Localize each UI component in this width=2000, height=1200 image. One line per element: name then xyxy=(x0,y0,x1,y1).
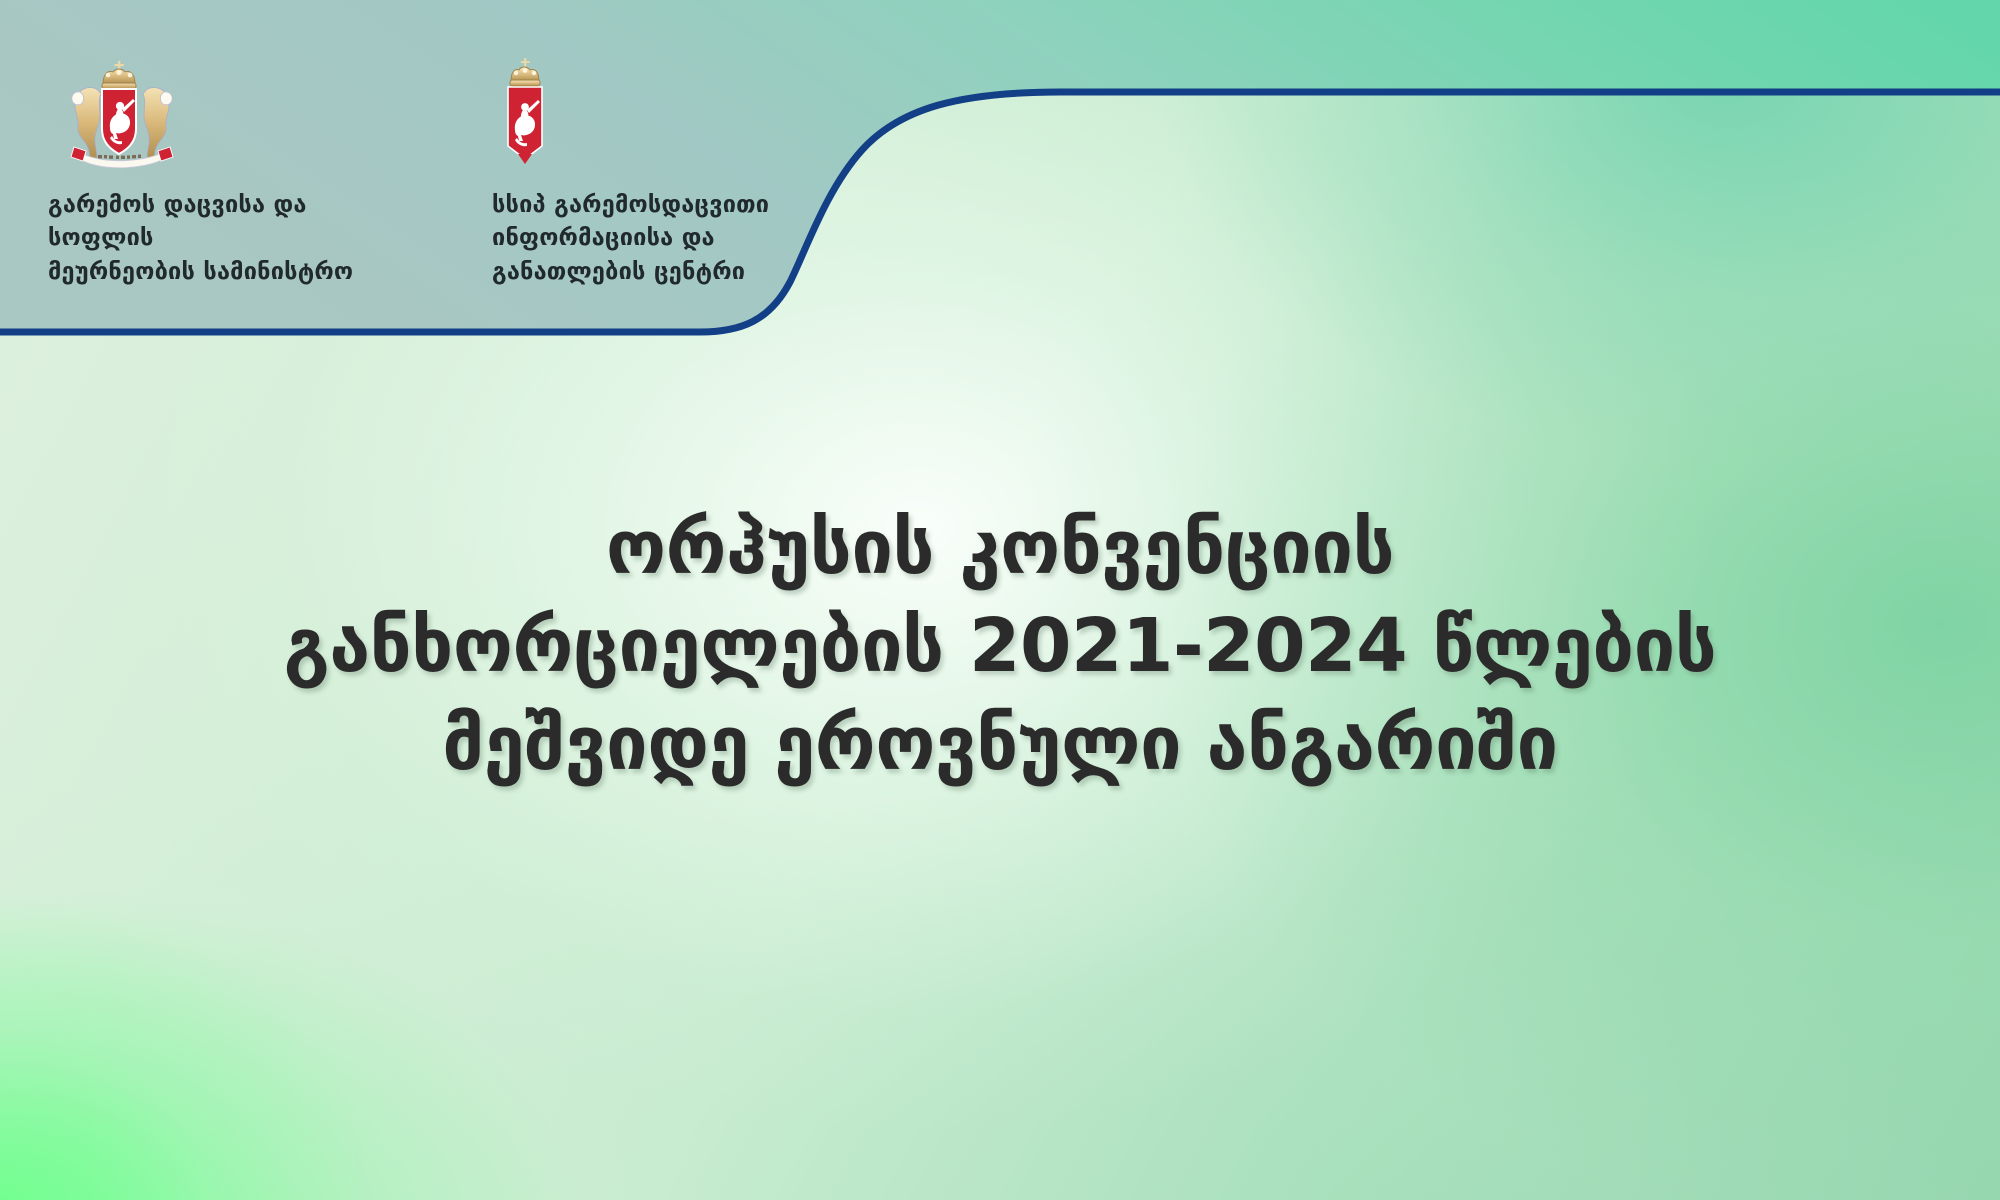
title-line-3: მეშვიდე ეროვნული ანგარიში xyxy=(120,696,1880,792)
crown-icon xyxy=(102,61,136,89)
georgia-coat-of-arms-icon xyxy=(48,52,378,172)
logo-row: გარემოს დაცვისა და სოფლის მეურნეობის სამ… xyxy=(0,0,900,345)
logo-center: სსიპ გარემოსდაცვითი ინფორმაციისა და განა… xyxy=(492,52,812,288)
logo-ministry: გარემოს დაცვისა და სოფლის მეურნეობის სამ… xyxy=(48,52,378,288)
environmental-information-center-emblem-icon xyxy=(492,52,812,172)
logo-center-label: სსიპ გარემოსდაცვითი ინფორმაციისა და განა… xyxy=(492,188,812,288)
page-title: ორჰუსის კონვენციის განხორციელების 2021-2… xyxy=(0,500,2000,793)
logo-ministry-label: გარემოს დაცვისა და სოფლის მეურნეობის სამ… xyxy=(48,188,378,288)
report-cover: გარემოს დაცვისა და სოფლის მეურნეობის სამ… xyxy=(0,0,2000,1200)
crown-icon xyxy=(510,58,540,86)
title-line-2: განხორციელების 2021-2024 წლების xyxy=(120,598,1880,694)
title-line-1: ორჰუსის კონვენციის xyxy=(120,500,1880,596)
